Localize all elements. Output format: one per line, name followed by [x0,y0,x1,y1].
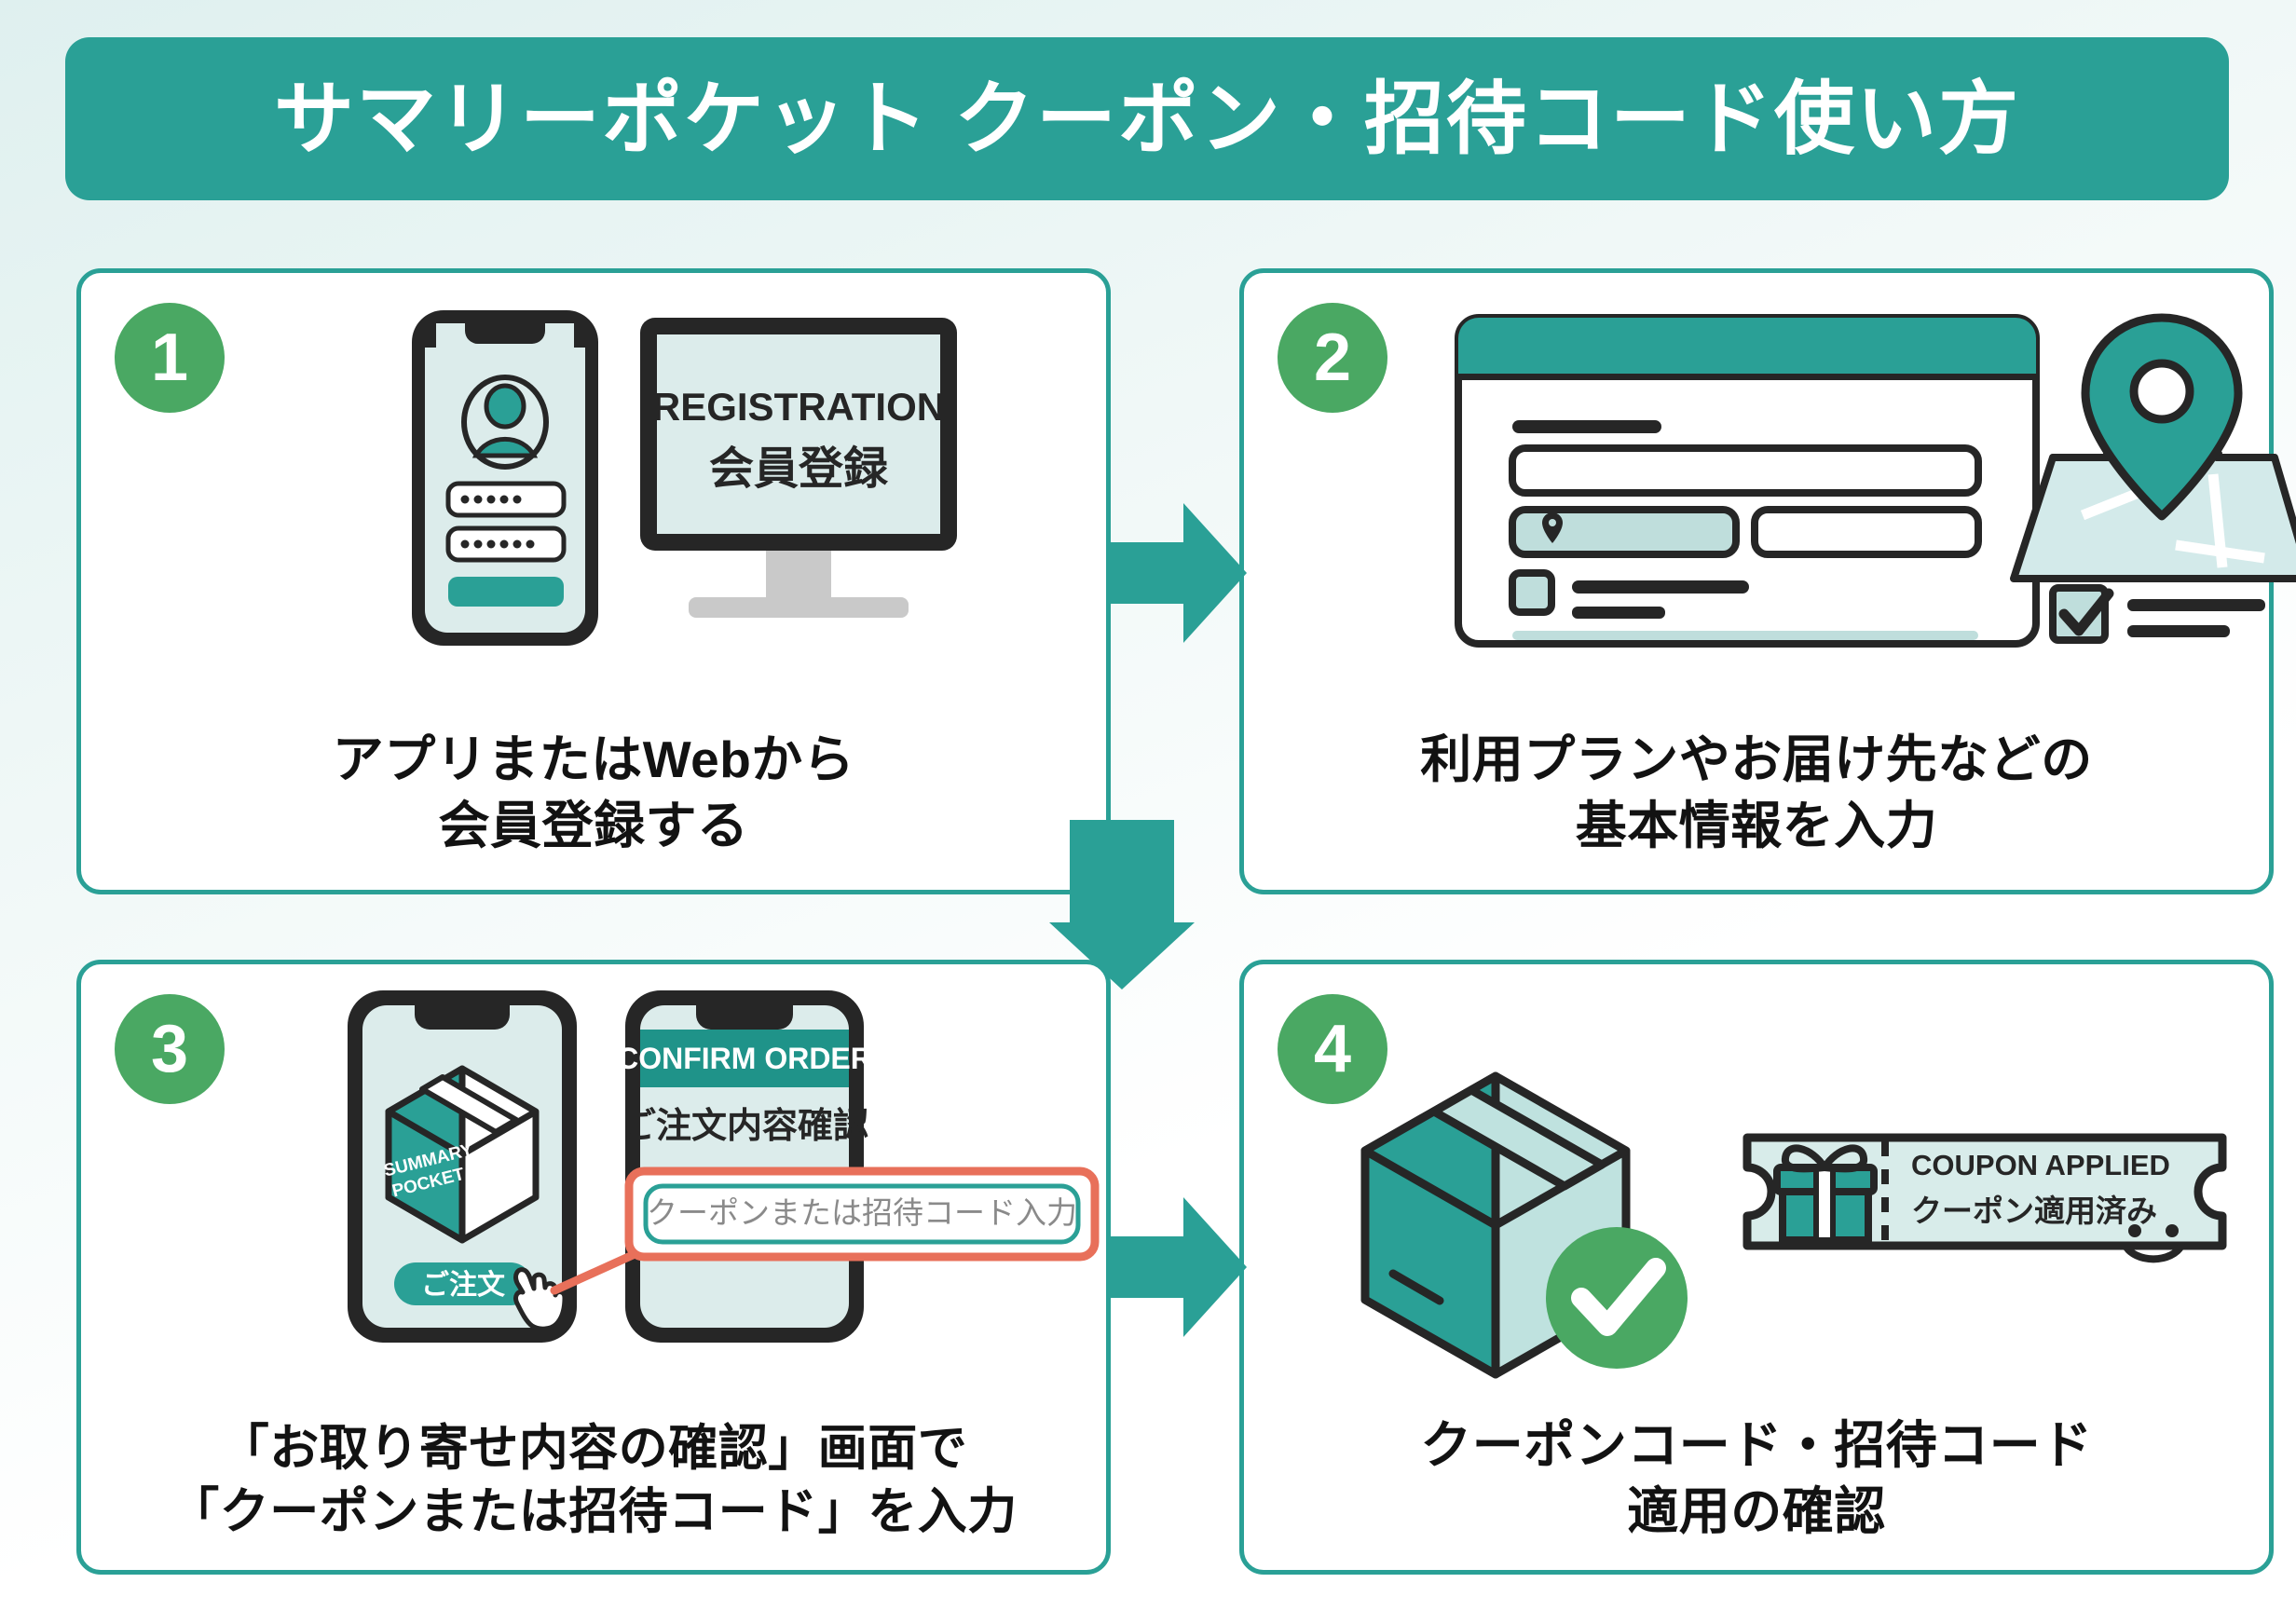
step-1-caption-line2: 会員登録する [103,793,1084,858]
ticket-title-en: COUPON APPLIED [1911,1149,2170,1181]
header-banner: サマリーポケット クーポン・招待コード使い方 [65,37,2229,200]
step-4-caption-line2: 適用の確認 [1266,1479,2247,1544]
step-card-1: 1 [76,268,1111,894]
step-2-illustration [1244,301,2269,664]
checkbox-confirm-icon [2053,588,2265,640]
coupon-input-placeholder: クーポンまたは招待コード入力 [647,1195,1077,1230]
coupon-input-callout: クーポンまたは招待コード入力 [629,1171,1095,1257]
step-3-caption-line1: 「お取り寄せ内容の確認」画面で [103,1417,1084,1480]
step-3-caption-line2: 「クーポンまたは招待コード」を入力 [103,1480,1084,1544]
step-3-caption: 「お取り寄せ内容の確認」画面で 「クーポンまたは招待コード」を入力 [103,1417,1084,1544]
form-window-icon [1458,318,2036,644]
step-4-illustration: COUPON APPLIED クーポン適用済み [1244,1002,2269,1374]
step-2-caption-line2: 基本情報を入力 [1266,793,2247,858]
monitor-title-en: REGISTRATION [652,385,945,429]
confirm-header-en: CONFIRM ORDER [617,1042,872,1075]
step-card-2: 2 [1239,268,2274,894]
step-1-caption: アプリまたはWebから 会員登録する [103,727,1084,858]
arrow-step3-to-step4 [1111,1197,1247,1337]
page-title: サマリーポケット クーポン・招待コード使い方 [274,79,2020,159]
coupon-ticket-icon: COUPON APPLIED クーポン適用済み [1747,1138,2222,1259]
infographic-page: サマリーポケット クーポン・招待コード使い方 1 [0,0,2296,1610]
map-pin-icon [2014,318,2296,579]
step-1-illustration: REGISTRATION 会員登録 [81,301,1106,664]
ticket-title-ja: クーポン適用済み [1911,1194,2157,1228]
phone-mockup-icon [412,310,598,646]
step-card-3: 3 SUMMARY POCKET [76,960,1111,1575]
step-2-caption-line1: 利用プランやお届け先などの [1266,727,2247,792]
step-4-caption-line1: クーポンコード・招待コード [1266,1412,2247,1478]
step-1-caption-line1: アプリまたはWebから [103,727,1084,792]
arrow-step1-to-step2 [1111,503,1247,643]
success-check-icon [1546,1227,1688,1369]
step-4-caption: クーポンコード・招待コード 適用の確認 [1266,1412,2247,1544]
monitor-mockup-icon: REGISTRATION 会員登録 [640,318,957,618]
step-3-illustration: SUMMARY POCKET ご注文 [81,983,1106,1356]
step-2-caption: 利用プランやお届け先などの 基本情報を入力 [1266,727,2247,858]
arrow-step2-to-step3 [1034,820,1230,997]
monitor-title-ja: 会員登録 [709,444,889,494]
order-button-label: ご注文 [421,1269,505,1301]
step-card-4: 4 [1239,960,2274,1575]
confirm-header-ja: ご注文内容確認 [621,1107,868,1146]
order-phone-icon: SUMMARY POCKET ご注文 [348,990,577,1343]
confirm-phone-icon: CONFIRM ORDER ご注文内容確認 [617,990,872,1343]
